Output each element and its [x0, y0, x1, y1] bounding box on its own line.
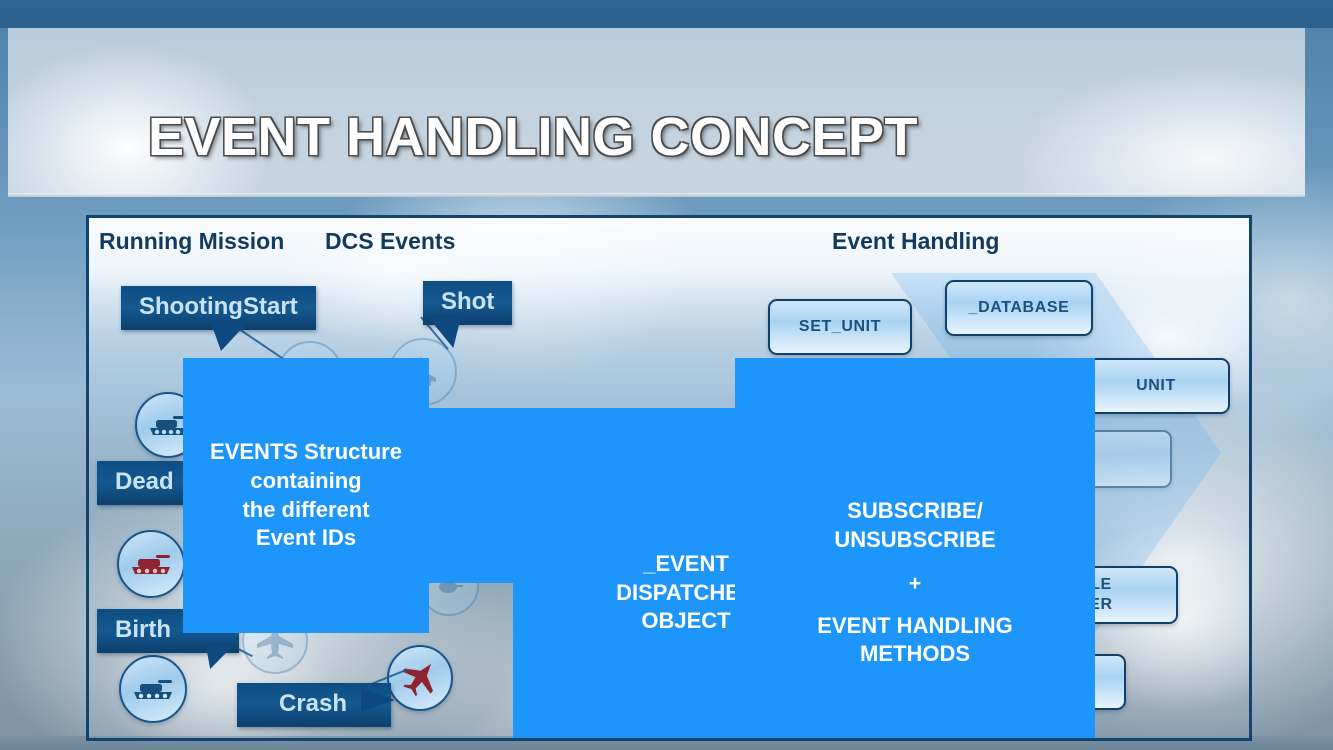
overlay-handling-plus: +: [909, 570, 921, 597]
overlay-handling-line2: UNSUBSCRIBE: [834, 526, 995, 555]
class-button-database[interactable]: _DATABASE: [945, 280, 1093, 336]
diagram-frame: Running Mission DCS Events Event Handlin…: [86, 215, 1252, 741]
overlay-dispatcher-line1: _EVENT: [643, 550, 729, 579]
top-strip: [0, 0, 1333, 28]
overlay-dispatcher-line3: OBJECT: [641, 607, 730, 636]
column-heading-running-mission: Running Mission: [99, 228, 284, 255]
column-heading-event-handling: Event Handling: [832, 228, 999, 255]
column-heading-dcs-events: DCS Events: [325, 228, 455, 255]
callout-tail-crash: [361, 688, 395, 712]
class-button-unit[interactable]: UNIT: [1082, 358, 1230, 414]
unit-icon-crashing-jet: [387, 645, 453, 711]
page-title: EVENT HANDLING CONCEPT: [148, 106, 918, 168]
overlay-events-line4: Event IDs: [256, 524, 356, 553]
overlay-events-line1: EVENTS Structure: [210, 438, 402, 467]
class-button-set-unit[interactable]: SET_UNIT: [768, 299, 912, 355]
unit-icon-tank-red: [117, 530, 185, 598]
overlay-events-line2: containing: [250, 467, 361, 496]
crashing-jet-icon: [399, 658, 441, 698]
overlay-events-line3: the different: [242, 496, 369, 525]
slide-stage: EVENT HANDLING CONCEPT Running Mission D…: [0, 0, 1333, 750]
callout-tail-shootingstart: [203, 323, 247, 351]
tank-icon: [129, 551, 173, 577]
title-band: EVENT HANDLING CONCEPT: [8, 28, 1305, 197]
overlay-event-handling: SUBSCRIBE/ UNSUBSCRIBE + EVENT HANDLING …: [735, 358, 1095, 741]
unit-icon-apc: [119, 655, 187, 723]
overlay-handling-line4: METHODS: [860, 640, 970, 669]
tank-icon: [131, 676, 175, 702]
overlay-events-structure: EVENTS Structure containing the differen…: [183, 358, 429, 633]
overlay-handling-line3: EVENT HANDLING: [817, 612, 1013, 641]
overlay-handling-line1: SUBSCRIBE/: [847, 497, 983, 526]
